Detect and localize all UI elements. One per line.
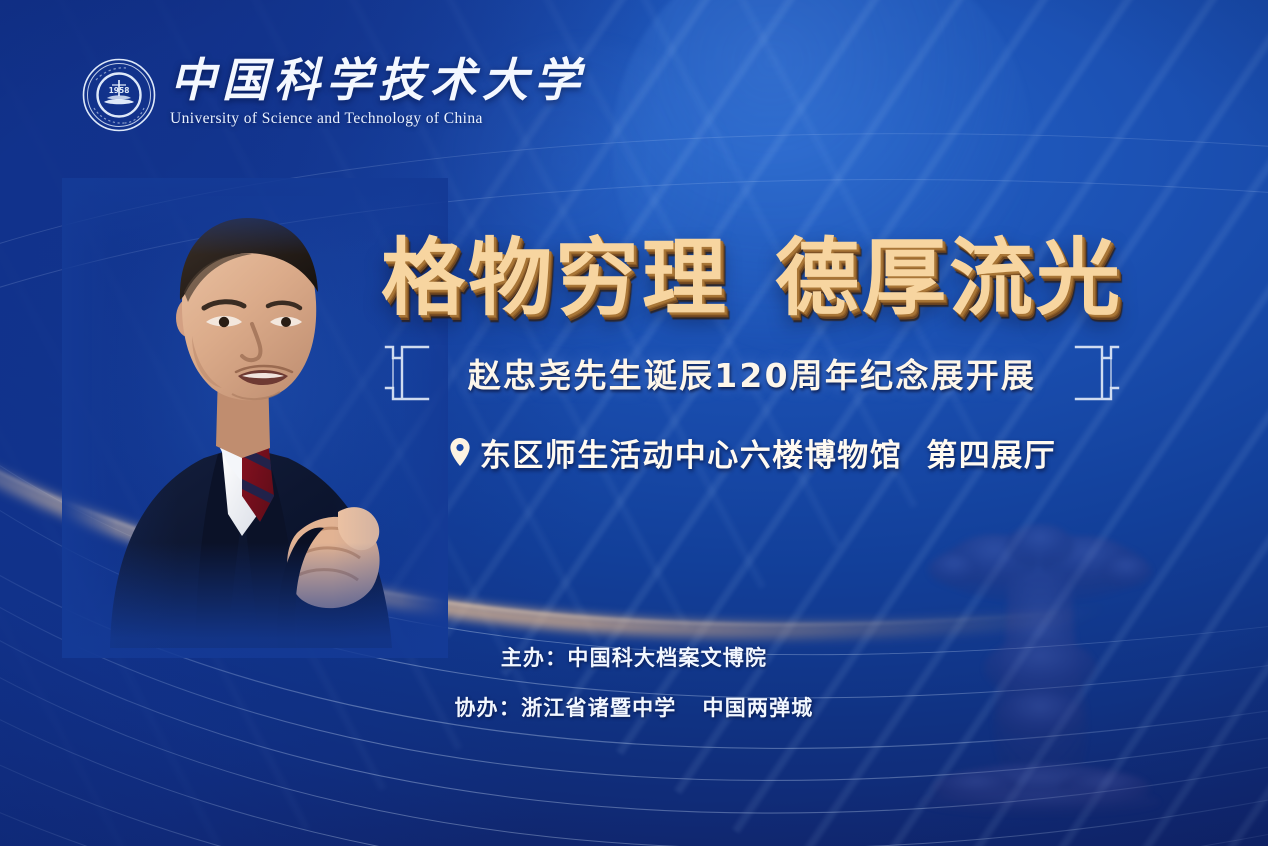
subtitle-text: 赵忠尧先生诞辰120周年纪念展开展: [384, 344, 1120, 402]
venue-line: 东区师生活动中心六楼博物馆 第四展厅: [352, 430, 1152, 475]
logo-name-cn: 中国科学技术大学: [170, 56, 586, 105]
logo-name-en: University of Science and Technology of …: [170, 110, 586, 128]
organiser-row-coorganiser: 协办：浙江省诸暨中学中国两弹城: [0, 692, 1268, 722]
page-title: 格物穷理德厚流光: [352, 236, 1152, 320]
exhibition-poster: 1958 中国科学技术大学 University of Science and …: [0, 0, 1268, 846]
venue-hall: 第四展厅: [926, 430, 1056, 475]
organiser-names-host: 中国科大档案文博院: [567, 646, 767, 670]
organiser-role-co: 协办：: [454, 696, 521, 720]
ustc-seal-icon: 1958: [82, 58, 156, 132]
ustc-seal-year: 1958: [109, 86, 130, 95]
title-part-2: 德厚流光: [775, 229, 1123, 327]
ustc-logo: 1958 中国科学技术大学 University of Science and …: [82, 56, 586, 132]
venue-place: 东区师生活动中心六楼博物馆: [480, 430, 903, 475]
title-part-1: 格物穷理: [381, 229, 729, 327]
organiser-names-co-2: 中国两弹城: [703, 696, 814, 720]
poster-content: 格物穷理德厚流光 赵忠尧先生诞辰120周年纪念展开展: [352, 236, 1152, 475]
subtitle-banner: 赵忠尧先生诞辰120周年纪念展开展: [384, 344, 1120, 402]
organiser-names-co: 浙江省诸暨中学: [521, 696, 676, 720]
location-pin-icon: [448, 437, 472, 467]
organiser-role-host: 主办：: [501, 646, 568, 670]
organisers-block: 主办：中国科大档案文博院 协办：浙江省诸暨中学中国两弹城: [0, 642, 1268, 722]
organiser-row-host: 主办：中国科大档案文博院: [0, 642, 1268, 672]
